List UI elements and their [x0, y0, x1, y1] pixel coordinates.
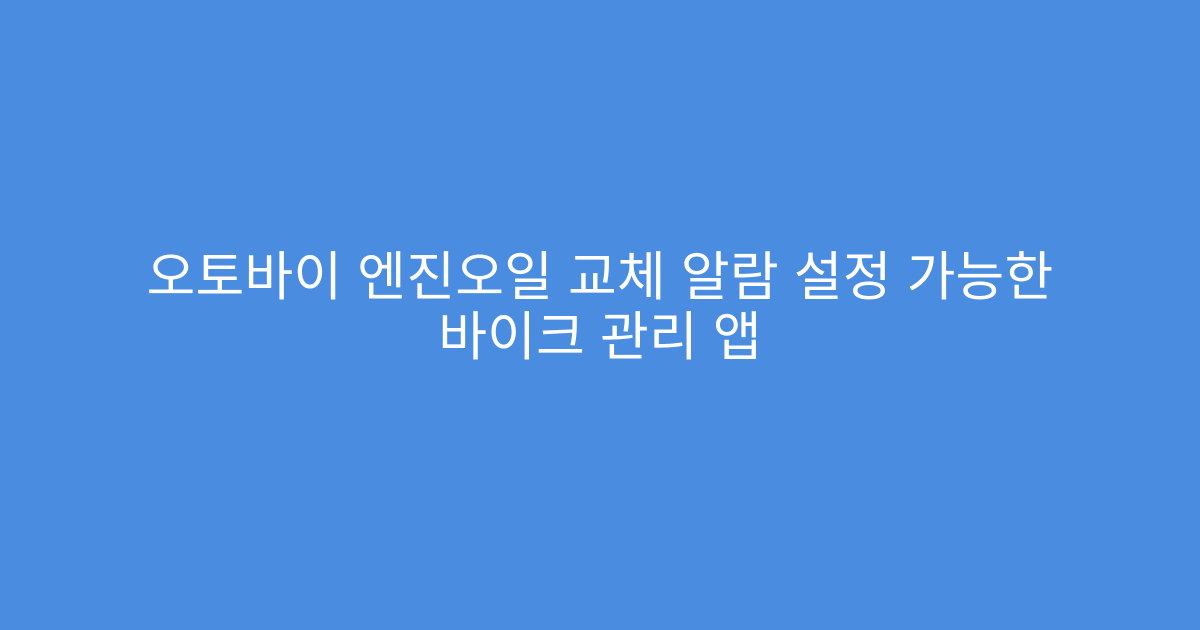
title-block: 오토바이 엔진오일 교체 알람 설정 가능한 바이크 관리 앱 [70, 248, 1130, 368]
og-card: 오토바이 엔진오일 교체 알람 설정 가능한 바이크 관리 앱 [0, 0, 1200, 630]
page-title: 오토바이 엔진오일 교체 알람 설정 가능한 바이크 관리 앱 [80, 248, 1120, 368]
